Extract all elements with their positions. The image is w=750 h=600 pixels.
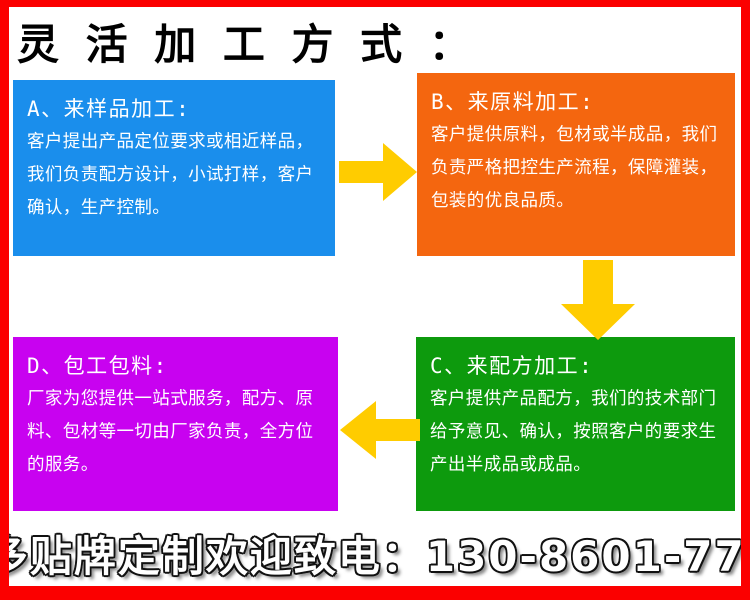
process-card-d-body: 厂家为您提供一站式服务，配方、原料、包材等一切由厂家负责，全方位的服务。	[27, 383, 324, 482]
page-title: 灵 活 加 工 方 式 ：	[17, 17, 457, 73]
process-card-b-heading: B、来原料加工:	[431, 85, 721, 119]
process-card-a-body: 客户提出产品定位要求或相近样品，我们负责配方设计，小试打样，客户确认，生产控制。	[27, 126, 321, 225]
process-card-b: B、来原料加工: 客户提供原料，包材或半成品，我们负责严格把控生产流程，保障灌装…	[417, 73, 735, 256]
process-card-c: C、来配方加工: 客户提供产品配方，我们的技术部门给予意见、确认，按照客户的要求…	[416, 337, 735, 511]
process-card-a: A、来样品加工: 客户提出产品定位要求或相近样品，我们负责配方设计，小试打样，客…	[13, 80, 335, 256]
arrow-right-icon	[339, 139, 417, 209]
contact-banner: 更多贴牌定制欢迎致电：130-8601-7720	[9, 526, 741, 588]
process-card-d-heading: D、包工包料:	[27, 349, 324, 383]
arrow-down-icon	[554, 260, 642, 344]
process-card-c-body: 客户提供产品配方，我们的技术部门给予意见、确认，按照客户的要求生产出半成品或成品…	[430, 383, 721, 482]
poster-root: 灵 活 加 工 方 式 ： A、来样品加工: 客户提出产品定位要求或相近样品，我…	[0, 0, 750, 600]
process-card-b-body: 客户提供原料，包材或半成品，我们负责严格把控生产流程，保障灌装，包装的优良品质。	[431, 119, 721, 218]
process-card-d: D、包工包料: 厂家为您提供一站式服务，配方、原料、包材等一切由厂家负责，全方位…	[13, 337, 338, 511]
contact-banner-text: 更多贴牌定制欢迎致电：130-8601-7720	[0, 529, 750, 585]
process-card-c-heading: C、来配方加工:	[430, 349, 721, 383]
process-card-a-heading: A、来样品加工:	[27, 92, 321, 126]
arrow-left-icon	[340, 397, 420, 467]
